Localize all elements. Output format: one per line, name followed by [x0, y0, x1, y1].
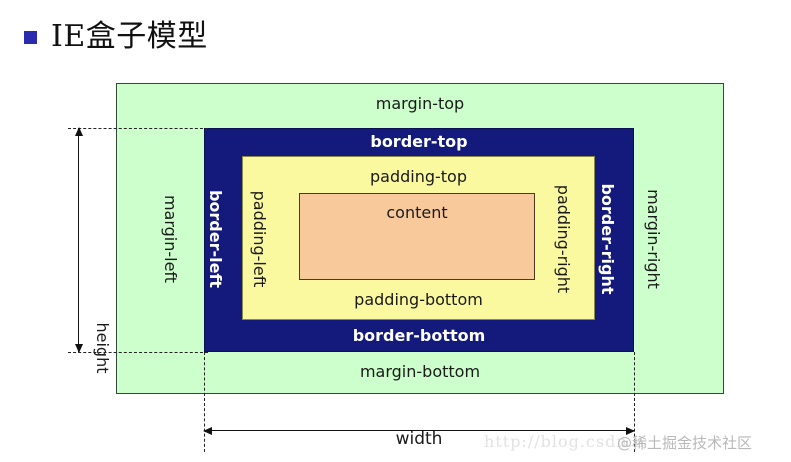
label-border-top: border-top — [204, 134, 634, 150]
label-padding-right: padding-right — [555, 154, 571, 324]
slide-title: IE盒子模型 — [24, 22, 208, 52]
label-padding-top: padding-top — [242, 169, 595, 185]
label-margin-bottom: margin-bottom — [116, 364, 724, 380]
label-margin-left: margin-left — [162, 154, 178, 324]
guide-line-top — [68, 128, 208, 129]
label-border-bottom: border-bottom — [204, 328, 634, 344]
label-margin-right: margin-right — [645, 154, 661, 324]
label-margin-top: margin-top — [116, 96, 724, 112]
bullet-square-icon — [24, 31, 37, 44]
label-height: height — [94, 303, 110, 393]
label-padding-left: padding-left — [251, 154, 267, 324]
label-content: content — [299, 205, 535, 221]
page-title: IE盒子模型 — [51, 22, 208, 52]
label-padding-bottom: padding-bottom — [242, 292, 595, 308]
guide-line-bottom — [68, 352, 208, 353]
label-border-left: border-left — [207, 154, 223, 324]
height-measure-arrow: height — [78, 128, 79, 352]
arrow-head-down-icon — [75, 344, 83, 353]
watermark-brand: @稀土掘金技术社区 — [617, 432, 752, 453]
slide-canvas: IE盒子模型 margin-top border-top padding-top… — [0, 0, 791, 462]
label-border-right: border-right — [599, 154, 615, 324]
arrow-head-up-icon — [75, 127, 83, 136]
